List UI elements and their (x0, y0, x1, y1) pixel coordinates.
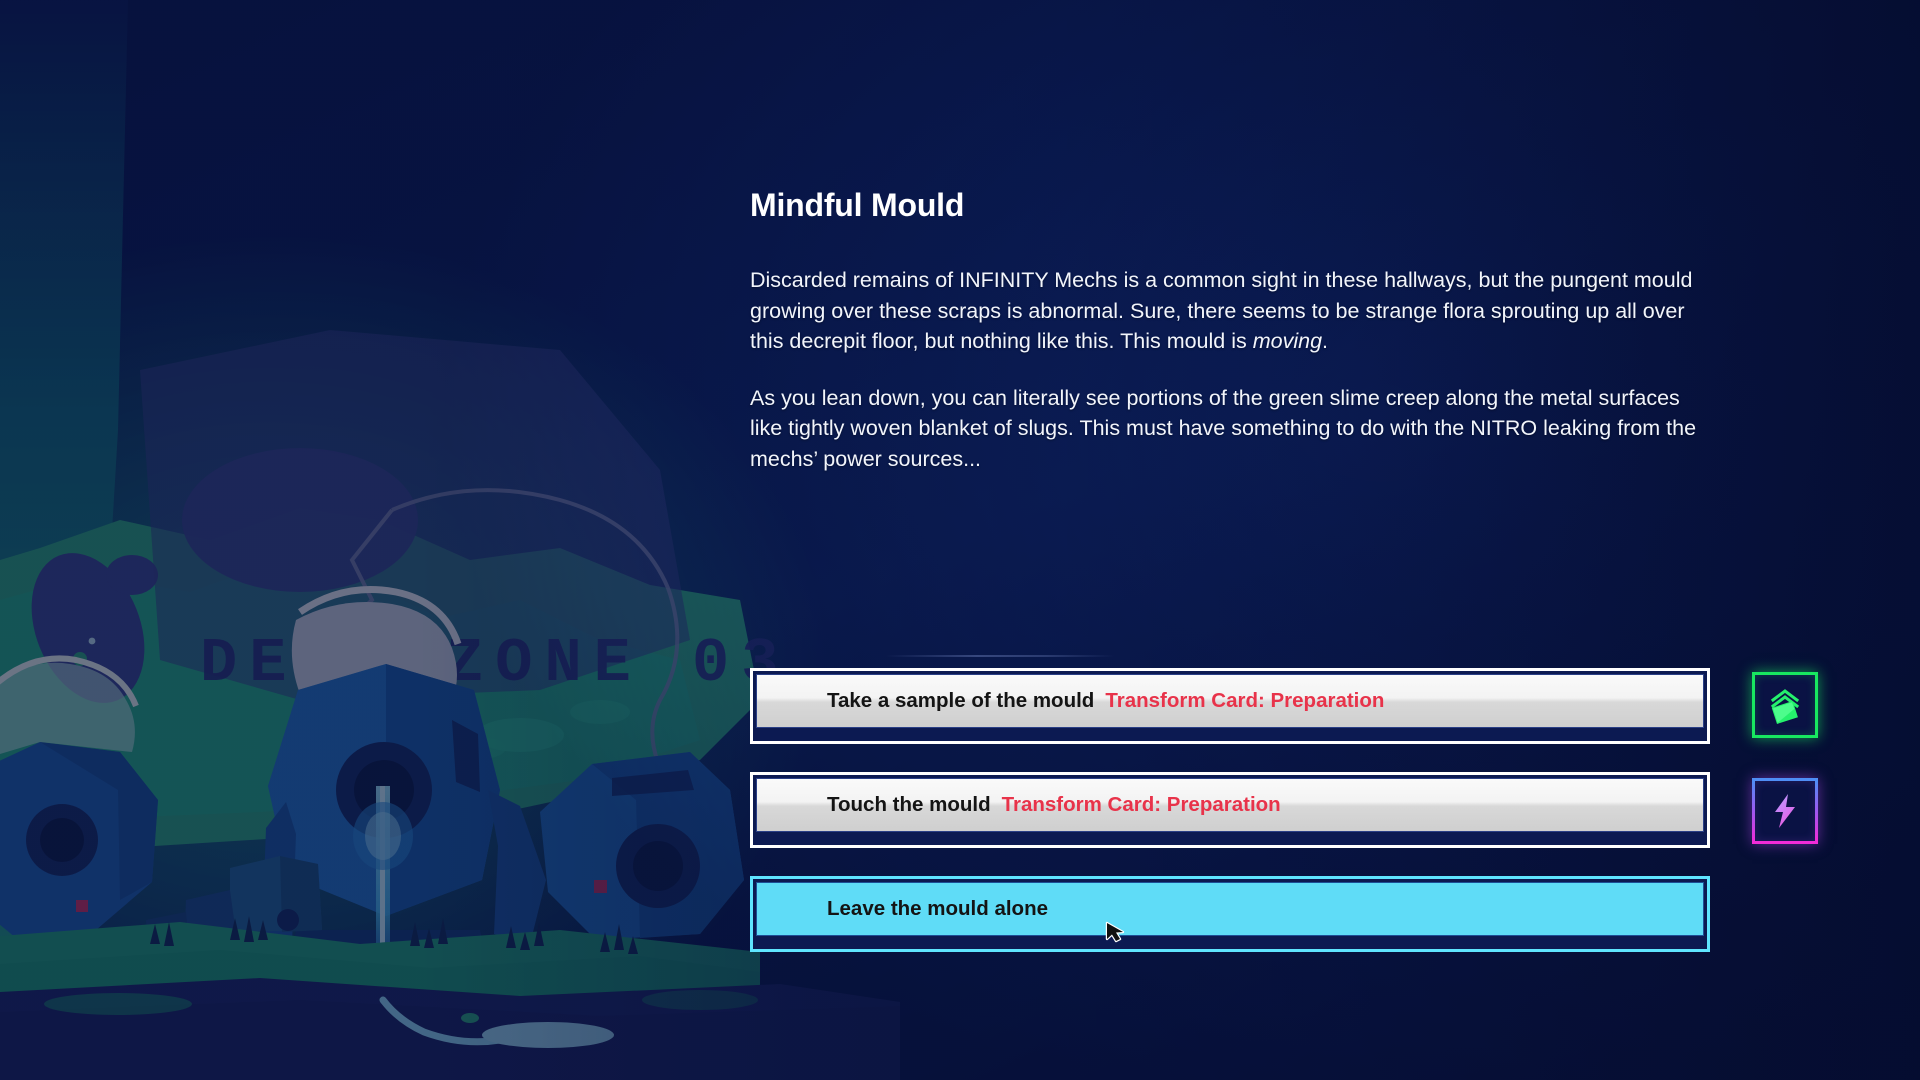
choice-label: Leave the mould alone (827, 897, 1048, 921)
narrative-panel: Mindful Mould Discarded remains of INFIN… (750, 188, 1710, 474)
choices-divider (885, 655, 1115, 657)
choice-effect-label: Transform Card: Preparation (1105, 689, 1384, 713)
choice-list: Take a sample of the mouldTransform Card… (750, 668, 1710, 952)
story-text: As you lean down, you can literally see … (750, 386, 1696, 471)
reinforce-glyph (1765, 685, 1805, 725)
choice-surface[interactable]: Leave the mould alone (756, 882, 1704, 936)
story-text: . (1322, 329, 1328, 353)
story-body: Discarded remains of INFINITY Mechs is a… (750, 265, 1710, 474)
choice-effect-label: Transform Card: Preparation (1002, 793, 1281, 817)
choice-label: Touch the mould (827, 793, 991, 817)
reinforce-icon[interactable] (1752, 672, 1818, 738)
choice-button[interactable]: Touch the mouldTransform Card: Preparati… (750, 772, 1710, 848)
story-paragraph: Discarded remains of INFINITY Mechs is a… (750, 265, 1710, 357)
choice-button[interactable]: Take a sample of the mouldTransform Card… (750, 668, 1710, 744)
story-paragraph: As you lean down, you can literally see … (750, 383, 1710, 475)
surge-lightning-icon[interactable] (1752, 778, 1818, 844)
game-screen: DEAD ZONE 03 (0, 0, 1920, 1080)
artwork-caption: DEAD ZONE 03 (200, 628, 790, 699)
story-text: Discarded remains of INFINITY Mechs is a… (750, 268, 1692, 353)
status-icon-rail (1752, 672, 1826, 844)
lightning-bolt-glyph (1766, 791, 1804, 831)
page-title: Mindful Mould (750, 188, 1710, 223)
emphasis-text: moving (1253, 329, 1322, 353)
choice-button[interactable]: Leave the mould alone (750, 876, 1710, 952)
choice-surface[interactable]: Take a sample of the mouldTransform Card… (756, 674, 1704, 728)
choice-surface[interactable]: Touch the mouldTransform Card: Preparati… (756, 778, 1704, 832)
choice-label: Take a sample of the mould (827, 689, 1094, 713)
